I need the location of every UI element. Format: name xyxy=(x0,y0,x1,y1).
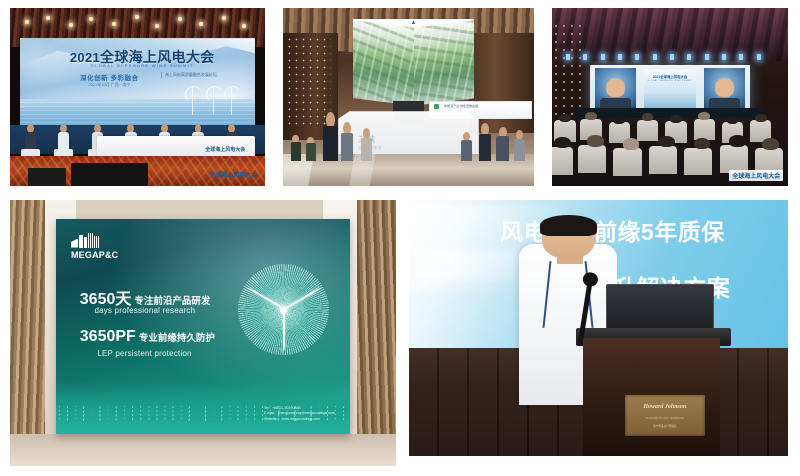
branded-backdrop: MEGAP&C 3650天专注前沿产品研发 days professional … xyxy=(56,219,349,434)
claim-2-cn: 专业前缘持久防护 xyxy=(139,333,215,344)
speaker-video-right xyxy=(704,68,746,109)
wind-turbine-icon xyxy=(180,87,241,115)
screen-title-en: GLOBAL OFFSHORE WIND SUMMIT xyxy=(644,80,695,82)
dais-logo: 全球海上风电大会 xyxy=(205,146,245,153)
factory-building-icon xyxy=(71,232,147,248)
screen-side-text: 海上风电高质量融合发展论坛 xyxy=(165,72,217,78)
panelist xyxy=(54,118,74,157)
screen-title: 2021全球海上风电大会 xyxy=(69,50,214,64)
plaque-brand: Howard Johnson xyxy=(625,404,705,410)
screen-center-panel: 2021全球海上风电大会 GLOBAL OFFSHORE WIND SUMMIT xyxy=(644,69,695,108)
screen-side-divider: 海上风电高质量融合发展论坛 xyxy=(161,72,242,78)
claim-2-en: LEP persistent protection xyxy=(97,349,191,358)
stage-monitor-speaker xyxy=(71,163,148,186)
photo-audience-hall[interactable]: 2021全球海上风电大会 GLOBAL OFFSHORE WIND SUMMIT xyxy=(552,8,788,186)
plaque-sub: CHIXING PLAZA NANNING xyxy=(625,417,705,420)
visitor xyxy=(341,118,354,161)
banner-leaf-icon xyxy=(434,104,439,109)
right-curtain xyxy=(357,200,396,450)
photo-gallery-page: 2021全球海上风电大会 GLOBAL OFFSHORE WIND SUMMIT… xyxy=(0,0,800,476)
plaque-cn: 南宁华美达广场酒店 xyxy=(625,424,705,428)
stage-monitor-speaker-2 xyxy=(28,168,66,186)
claim-2-number: 3650PF xyxy=(80,328,136,345)
speaker-hair xyxy=(540,215,597,235)
contact-block: Tel：+86-21-50190888 E-mail：zhanghuayong@… xyxy=(264,406,335,423)
cube-face-right xyxy=(414,20,474,106)
photo-speaker-podium[interactable]: 风电叶片前缘5年质保 发电量提升解决方案 Howard Johnson CHIX… xyxy=(409,200,788,456)
hotel-plaque: Howard Johnson CHIXING PLAZA NANNING 南宁华… xyxy=(625,395,705,436)
visitor xyxy=(479,120,492,161)
led-cube-display: ▲ xyxy=(353,24,473,102)
speaker-video-left xyxy=(595,68,637,109)
slide-heading-line-1: 风电叶片前缘5年质保 xyxy=(500,213,725,247)
stage-led-screen: 2021全球海上风电大会 GLOBAL OFFSHORE WIND SUMMIT… xyxy=(20,38,255,131)
turbine-rotor-icon xyxy=(238,264,329,355)
event-watermark: 全球海上风电大会 xyxy=(729,170,783,181)
cube-logo-icon: ▲ xyxy=(411,20,417,26)
wall-light-dots xyxy=(552,22,585,115)
visitor xyxy=(323,108,338,161)
screen-title-cn: 2021全球海上风电大会 xyxy=(644,74,695,79)
floor xyxy=(10,434,396,466)
screen-date-place: 2021年10月 广西 · 南宁 xyxy=(60,82,159,88)
cube-face-left xyxy=(353,20,416,106)
banner-text: 新能源产业 绿色低碳发展 xyxy=(444,104,478,108)
lighting-truss xyxy=(561,54,778,61)
claim-1-en: days professional research xyxy=(94,306,195,315)
visitor xyxy=(461,129,472,161)
visitor xyxy=(361,126,372,162)
contact-website: Website： www.megacoatings.com xyxy=(264,417,335,423)
megapc-logo: MEGAP&C xyxy=(71,232,147,260)
visitor xyxy=(514,127,525,161)
screen-title-en: GLOBAL OFFSHORE WIND SUMMIT xyxy=(69,63,214,68)
contact-email: E-mail：zhanghuayong@megacoatings.com xyxy=(264,411,335,417)
left-curtain xyxy=(10,200,45,445)
photo-panel-discussion[interactable]: 2021全球海上风电大会 GLOBAL OFFSHORE WIND SUMMIT… xyxy=(10,8,265,186)
panelist xyxy=(20,118,40,157)
ceiling-lights xyxy=(10,12,265,40)
visitor xyxy=(291,133,301,161)
event-watermark: 全球海上风电大会 xyxy=(209,170,257,179)
photo-exhibition-cube[interactable]: ▲ 新能源产业 绿色低碳发展 三峡 中国三峡集团 xyxy=(283,8,534,186)
claim-line-2: 3650PF专业前缘持久防护 xyxy=(80,328,215,346)
photo-megapc-backdrop[interactable]: MEGAP&C 3650天专注前沿产品研发 days professional … xyxy=(10,200,396,466)
screen-slogan: 深化创新 多彩融合 xyxy=(60,72,159,82)
visitor xyxy=(306,134,316,161)
visitor xyxy=(496,124,509,161)
megapc-wordmark: MEGAP&C xyxy=(71,250,147,260)
